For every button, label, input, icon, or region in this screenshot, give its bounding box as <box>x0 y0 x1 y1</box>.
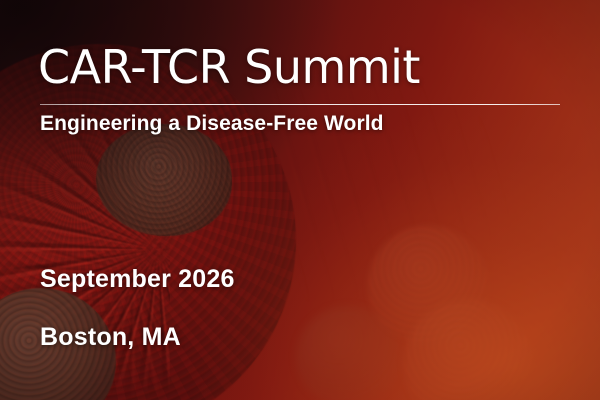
event-title: CAR-TCR Summit <box>38 40 420 94</box>
banner-content: CAR-TCR Summit Engineering a Disease-Fre… <box>0 0 600 400</box>
event-date: September 2026 <box>40 264 235 294</box>
event-tagline: Engineering a Disease-Free World <box>40 111 384 137</box>
conference-banner: CAR-TCR Summit Engineering a Disease-Fre… <box>0 0 600 400</box>
title-divider-rule <box>40 104 560 105</box>
event-location: Boston, MA <box>40 322 181 352</box>
